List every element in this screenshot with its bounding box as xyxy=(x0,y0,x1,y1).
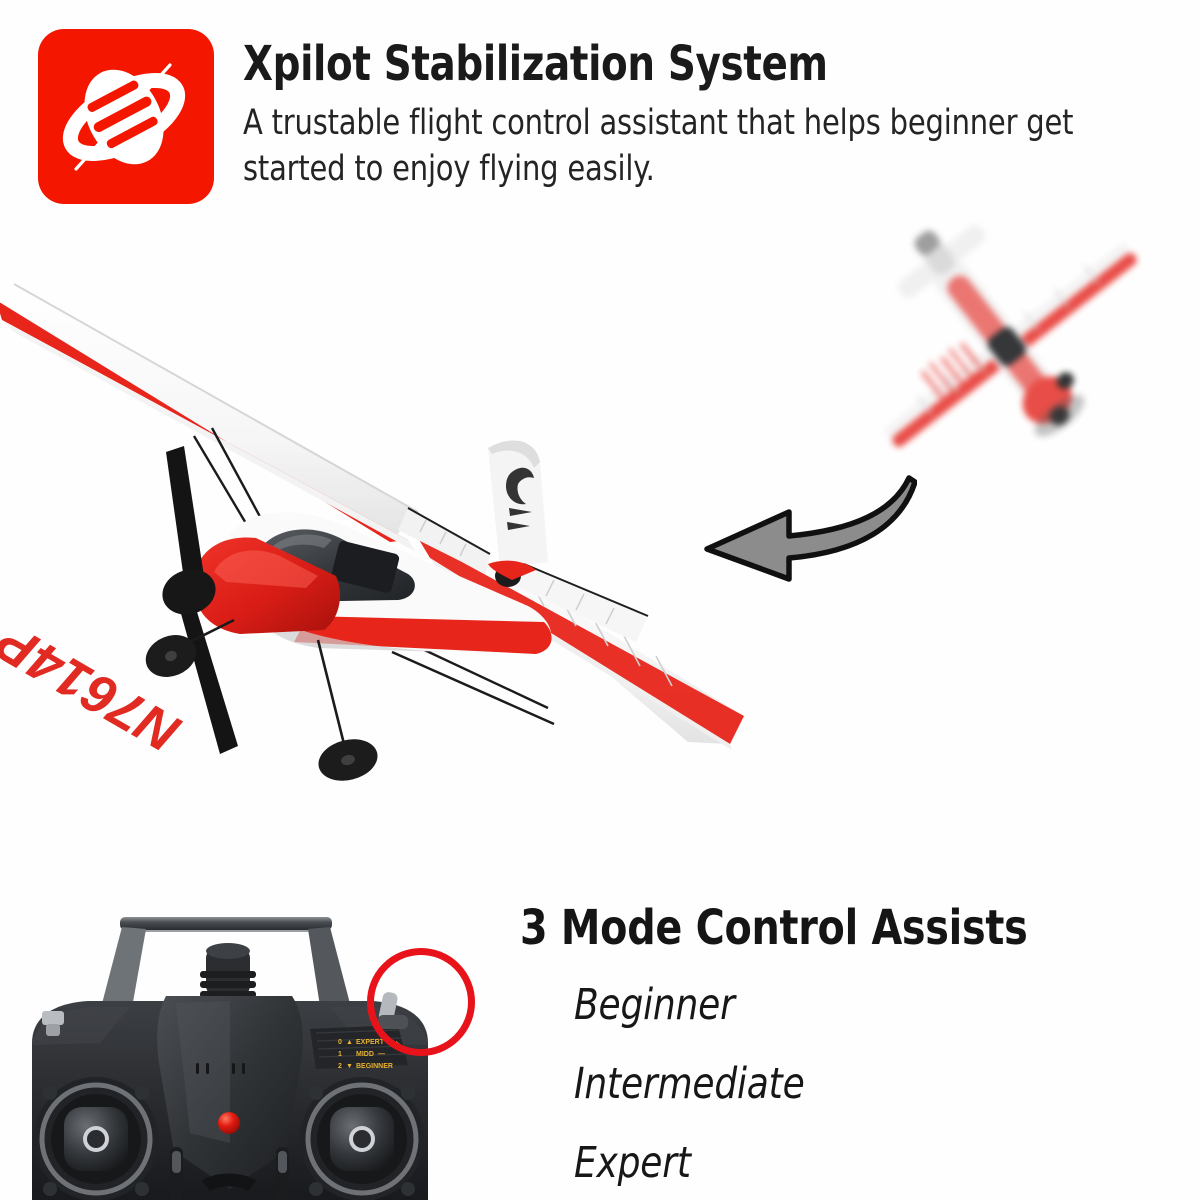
page-title: Xpilot Stabilization System xyxy=(243,40,1089,88)
page-subtitle: A trustable flight control assistant tha… xyxy=(243,101,1134,192)
modes-title: 3 Mode Control Assists xyxy=(520,900,1127,956)
mode-item-intermediate: Intermediate xyxy=(574,1063,1138,1106)
modes-list: Beginner Intermediate Expert xyxy=(574,984,1180,1185)
rc-airplane-in-flight xyxy=(838,198,1188,498)
right-gimbal-stick xyxy=(300,1077,424,1200)
power-led xyxy=(218,1112,240,1134)
antenna xyxy=(200,943,256,998)
infographic-page: Xpilot Stabilization System A trustable … xyxy=(0,0,1200,1200)
gyroscope-orbit-icon xyxy=(38,29,214,204)
mode-item-expert: Expert xyxy=(574,1142,1138,1185)
switch-highlight-circle xyxy=(367,948,475,1056)
header-section: Xpilot Stabilization System A trustable … xyxy=(0,0,1200,215)
left-gimbal-stick xyxy=(34,1077,158,1200)
xpilot-badge xyxy=(38,29,214,204)
modes-section: 3 Mode Control Assists Beginner Intermed… xyxy=(520,900,1180,1200)
header-text-block: Xpilot Stabilization System A trustable … xyxy=(243,40,1183,192)
rc-airplane-main: N7614P xyxy=(0,276,778,856)
registration-text: N7614P xyxy=(0,611,190,764)
mode-item-beginner: Beginner xyxy=(574,984,1138,1027)
